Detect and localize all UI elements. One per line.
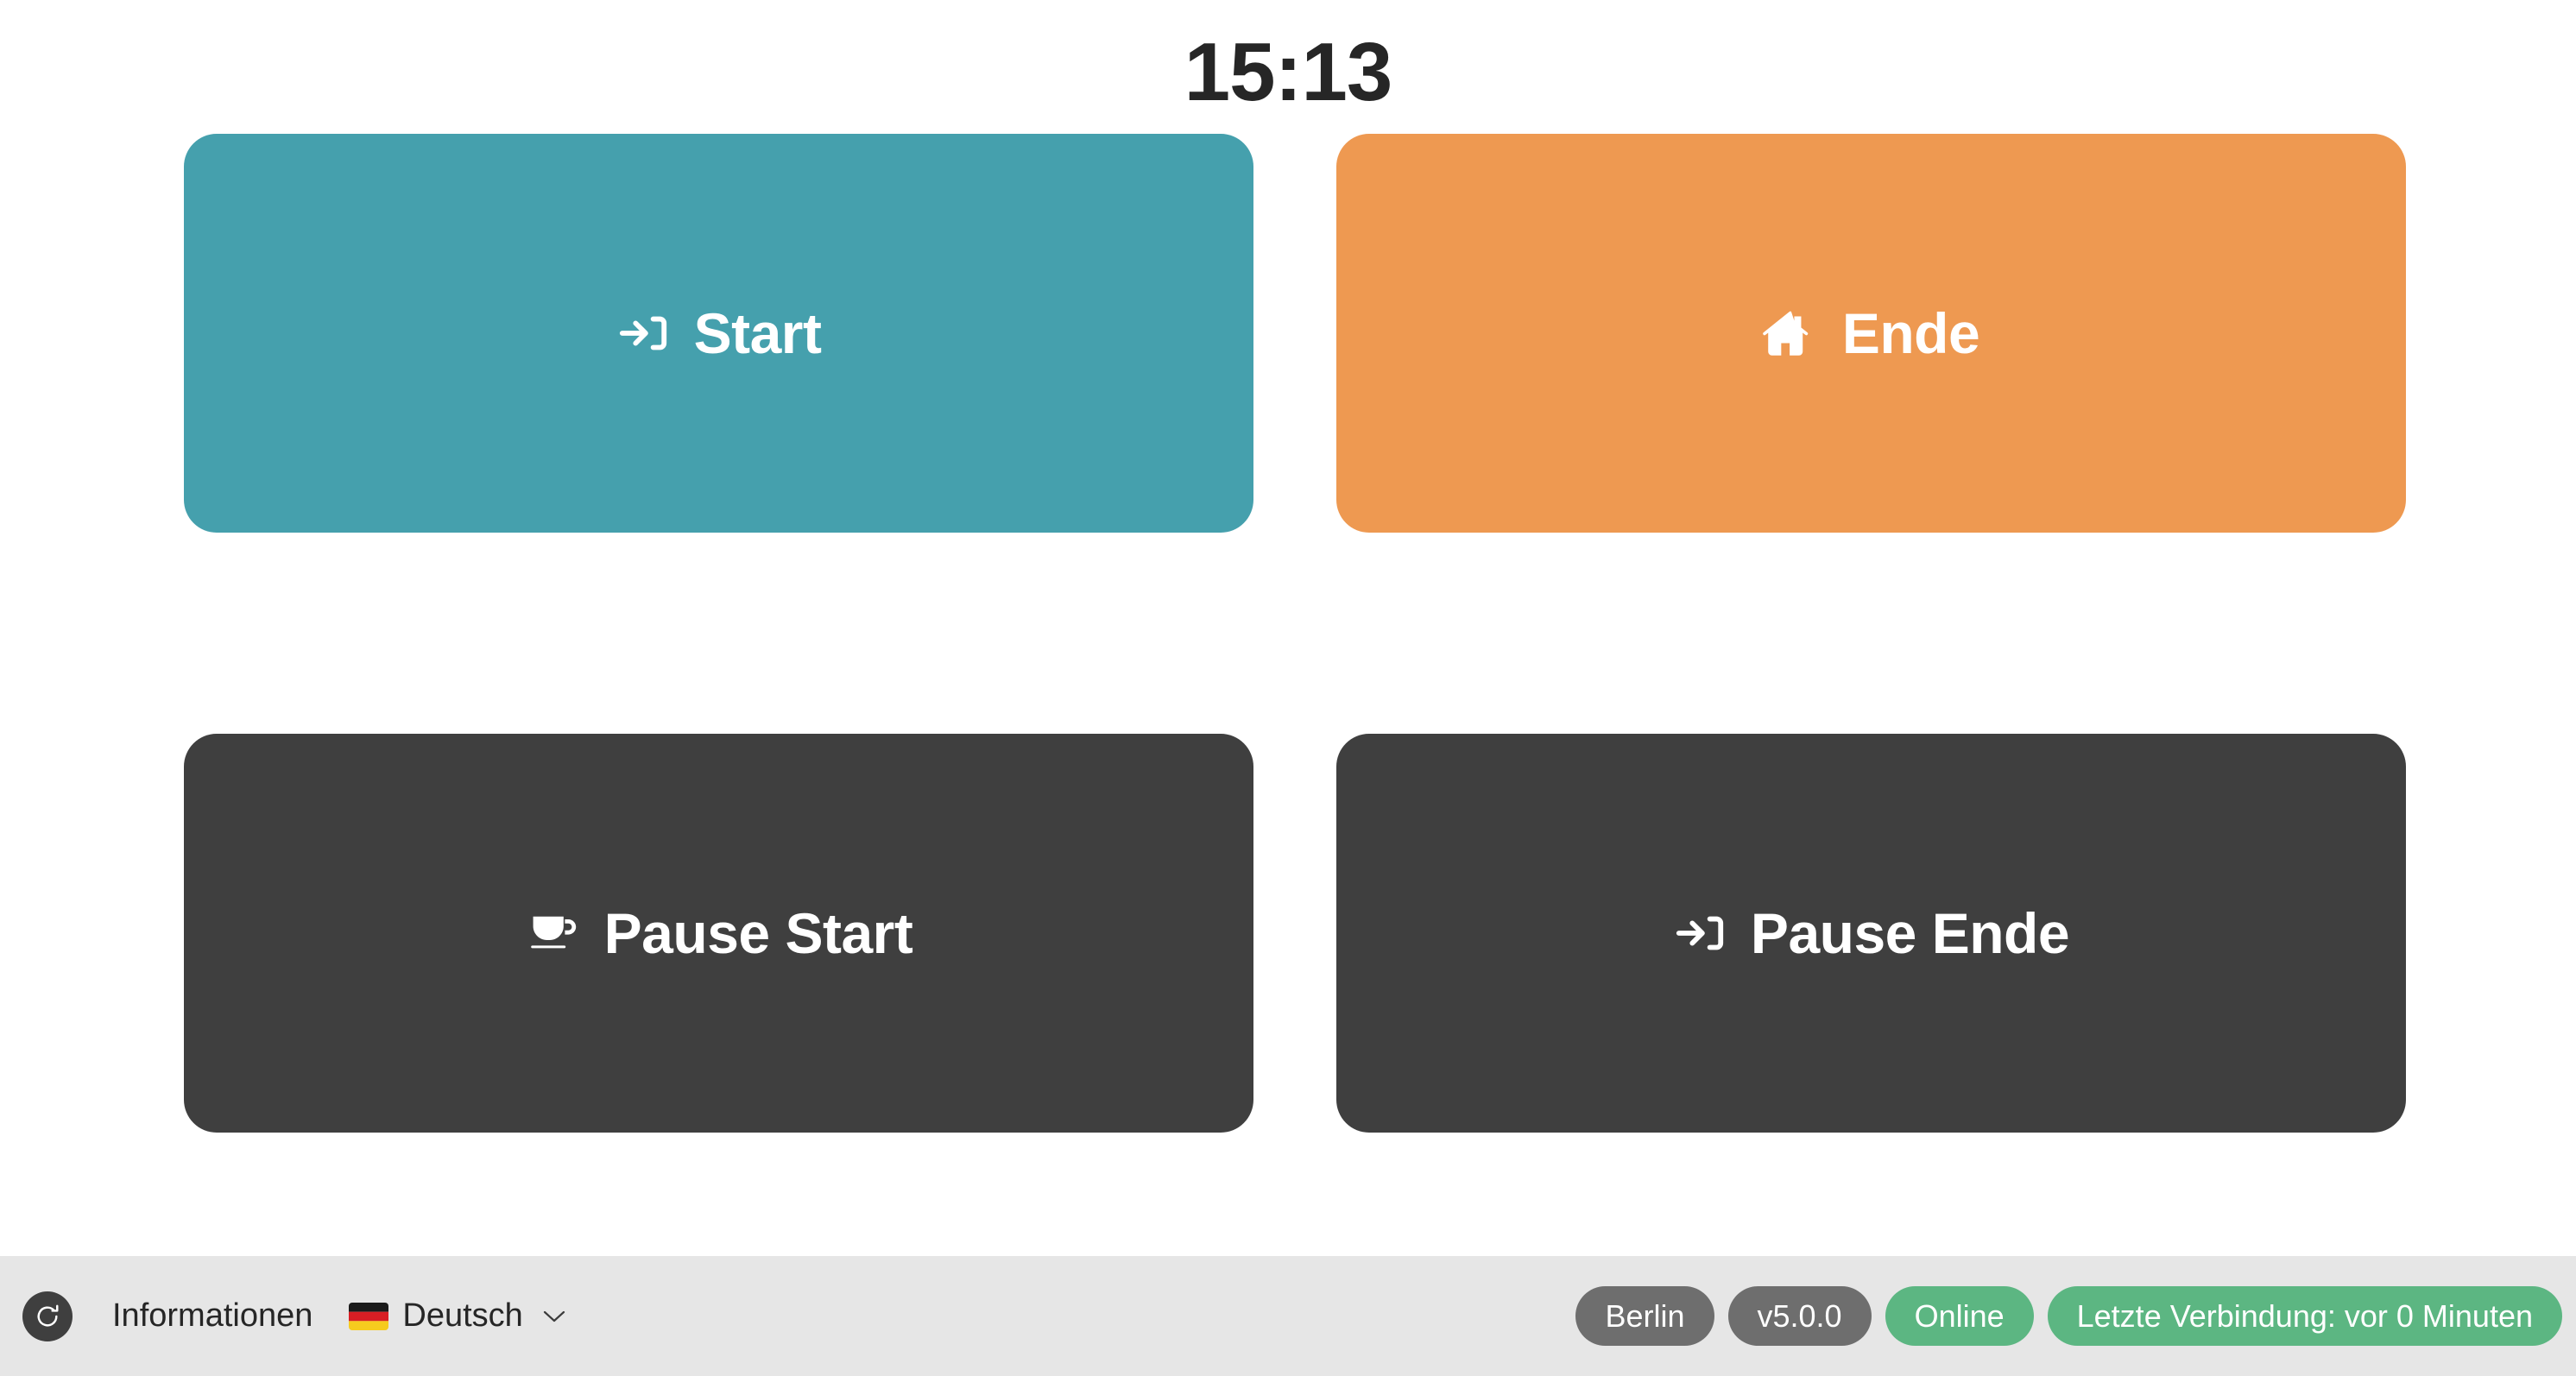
language-label: Deutsch: [402, 1297, 522, 1335]
language-selector[interactable]: Deutsch: [349, 1297, 565, 1335]
refresh-button[interactable]: [22, 1291, 73, 1341]
status-badge-location: Berlin: [1575, 1286, 1714, 1346]
ende-button[interactable]: Ende: [1336, 134, 2406, 533]
pause-ende-button-label: Pause Ende: [1751, 900, 2069, 966]
status-badge-version: v5.0.0: [1728, 1286, 1872, 1346]
pause-ende-button[interactable]: Pause Ende: [1336, 734, 2406, 1133]
start-button-label: Start: [694, 300, 822, 366]
sign-in-icon: [1673, 906, 1727, 960]
status-bar: Informationen Deutsch: [0, 1256, 2576, 1376]
pause-start-button-label: Pause Start: [604, 900, 913, 966]
pause-start-button[interactable]: Pause Start: [184, 734, 1253, 1133]
ende-button-label: Ende: [1842, 300, 1979, 366]
status-badges: Berlin v5.0.0 Online Letzte Verbindung: …: [1575, 1286, 2562, 1346]
coffee-cup-icon: [525, 906, 580, 960]
time-tracking-terminal: 15:13 Start Ende: [0, 0, 2576, 1376]
current-time: 15:13: [0, 29, 2576, 117]
status-badge-last-connection: Letzte Verbindung: vor 0 Minuten: [2048, 1286, 2562, 1346]
clock-container: 15:13: [0, 0, 2576, 117]
home-icon: [1763, 306, 1818, 360]
sign-in-icon: [616, 306, 670, 360]
start-button[interactable]: Start: [184, 134, 1253, 533]
flag-germany-icon: [349, 1303, 388, 1330]
status-badge-online: Online: [1885, 1286, 2034, 1346]
status-bar-left: Informationen Deutsch: [22, 1291, 566, 1341]
informationen-link[interactable]: Informationen: [112, 1297, 313, 1335]
refresh-icon: [35, 1303, 60, 1329]
action-button-grid: Start Ende Pause Start: [0, 117, 2576, 1256]
chevron-down-icon: [542, 1309, 566, 1324]
